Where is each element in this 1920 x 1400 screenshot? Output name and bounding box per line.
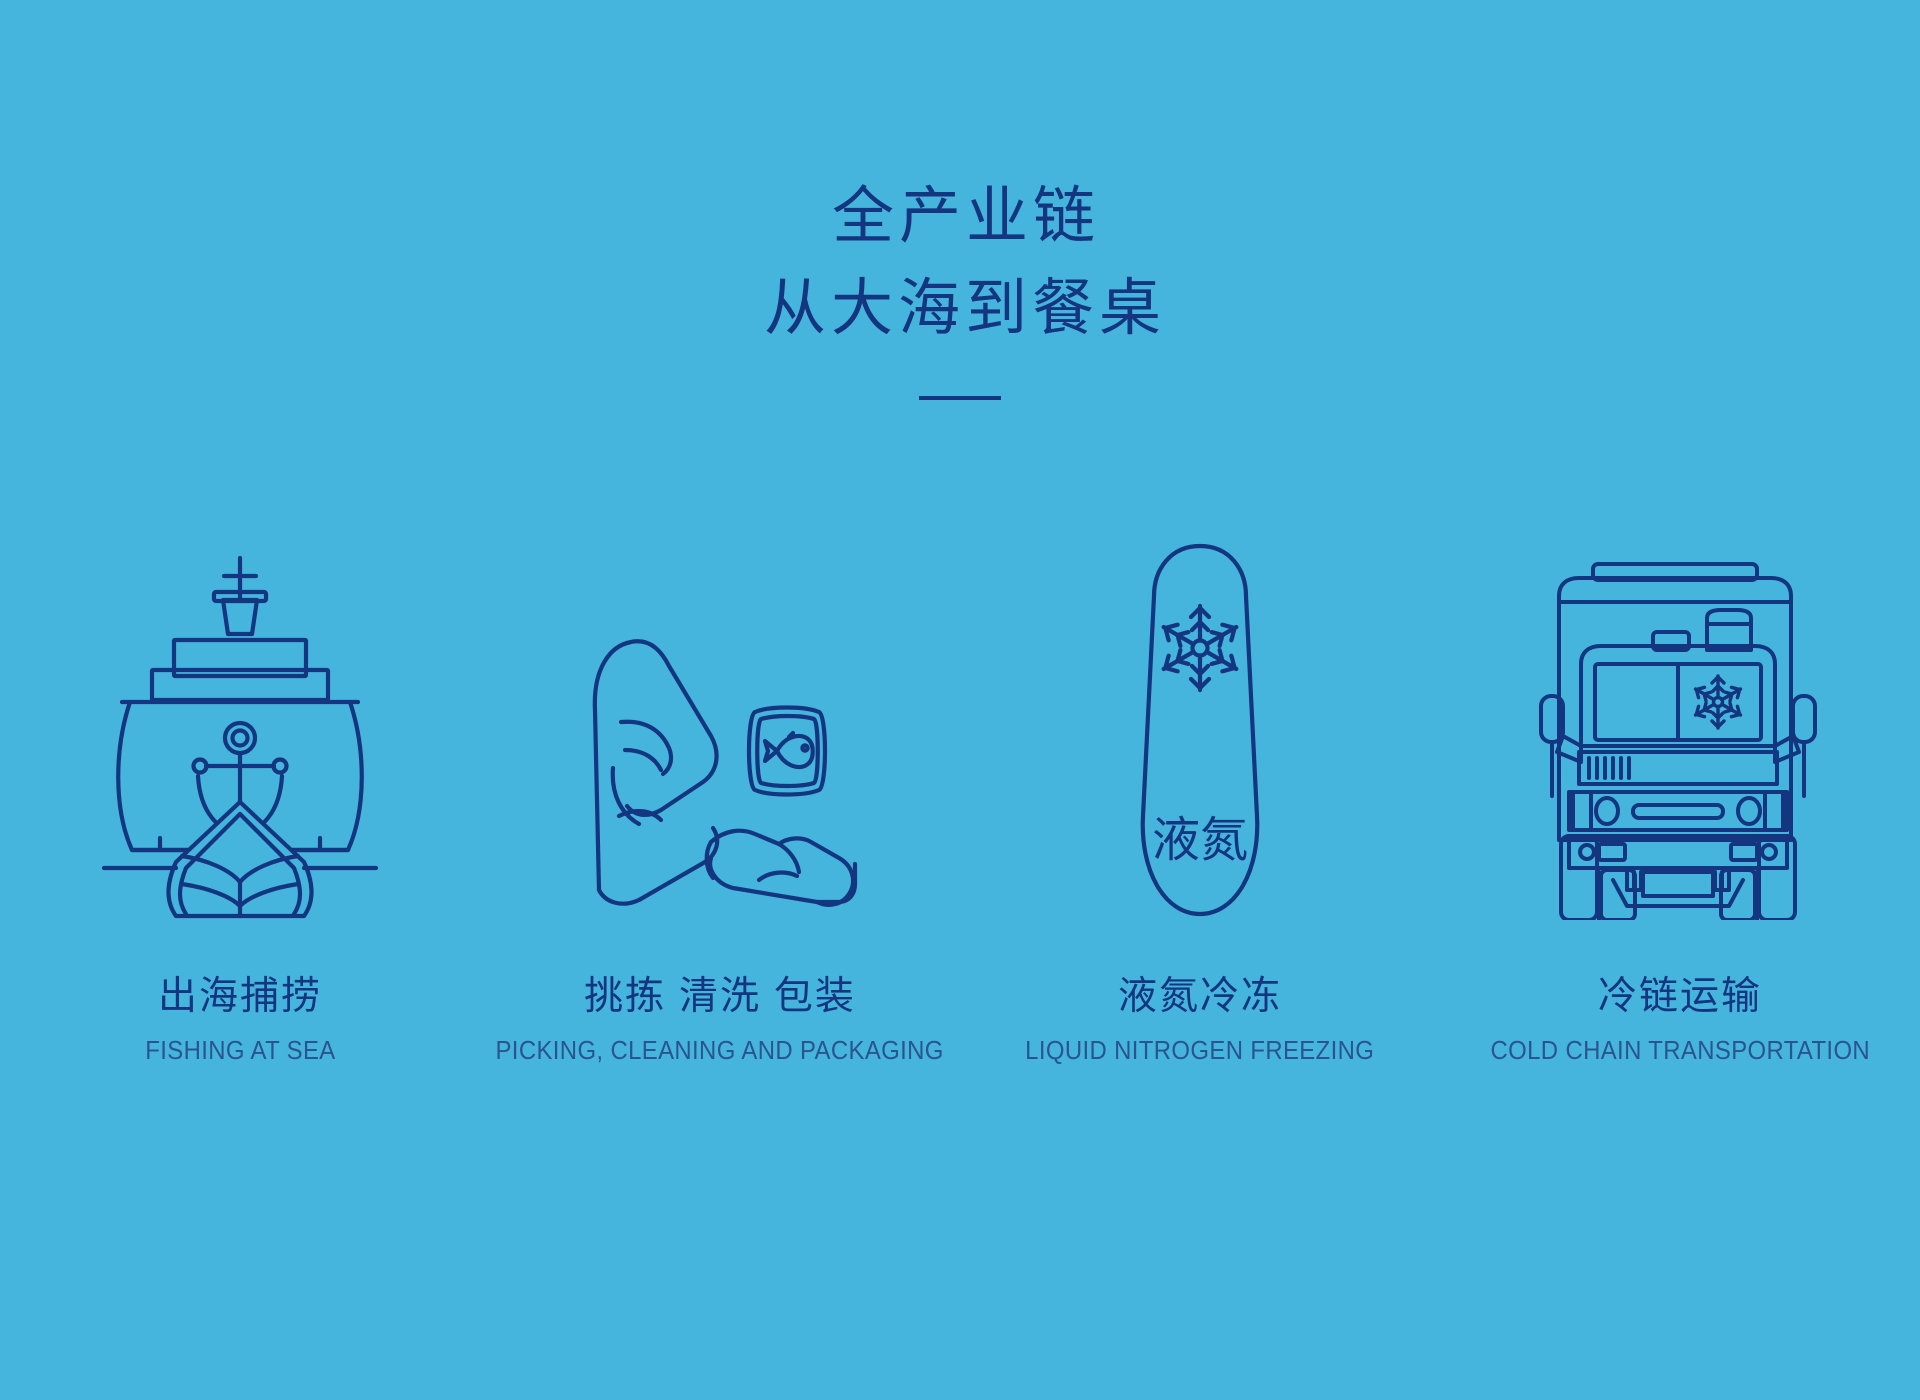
tank-label: 液氮 bbox=[1152, 814, 1248, 867]
page-title-line-2: 从大海到餐桌 bbox=[10, 262, 1920, 354]
step-labels: 液氮冷冻 LIQUID NITROGEN FREEZING bbox=[1010, 972, 1389, 1066]
step-label-cn: 液氮冷冻 bbox=[1010, 972, 1389, 1023]
step-label-cn: 出海捕捞 bbox=[137, 972, 344, 1023]
step-labels: 挑拣 清洗 包装 PICKING, CLEANING AND PACKAGING bbox=[476, 972, 963, 1066]
step-cold-chain-transportation[interactable]: 冷链运输 COLD CHAIN TRANSPORTATION bbox=[1440, 520, 1920, 1066]
fishing-boat-icon bbox=[90, 520, 390, 920]
liquid-nitrogen-tank-icon: 液氮 bbox=[1110, 520, 1290, 920]
step-liquid-nitrogen-freezing[interactable]: 液氮 液氮冷冻 LIQUID NITROGEN FREEZING bbox=[960, 520, 1440, 1066]
process-steps: 出海捕捞 FISHING AT SEA bbox=[0, 520, 1920, 1066]
step-labels: 冷链运输 COLD CHAIN TRANSPORTATION bbox=[1474, 972, 1887, 1066]
step-label-cn: 冷链运输 bbox=[1474, 972, 1887, 1023]
step-label-en: COLD CHAIN TRANSPORTATION bbox=[1490, 1035, 1870, 1066]
step-picking-cleaning-packaging[interactable]: 挑拣 清洗 包装 PICKING, CLEANING AND PACKAGING bbox=[480, 520, 960, 1066]
refrigerated-truck-icon bbox=[1535, 520, 1825, 920]
title-divider bbox=[919, 396, 1001, 400]
step-label-en: PICKING, CLEANING AND PACKAGING bbox=[496, 1035, 944, 1066]
step-fishing-at-sea[interactable]: 出海捕捞 FISHING AT SEA bbox=[0, 520, 480, 1066]
step-label-en: LIQUID NITROGEN FREEZING bbox=[1025, 1035, 1374, 1066]
page-title-line-1: 全产业链 bbox=[12, 170, 1920, 262]
step-label-en: FISHING AT SEA bbox=[145, 1035, 335, 1066]
hands-fish-package-icon bbox=[565, 520, 875, 920]
page-title: 全产业链 从大海到餐桌 bbox=[0, 170, 1920, 400]
step-label-cn: 挑拣 清洗 包装 bbox=[476, 972, 963, 1023]
step-labels: 出海捕捞 FISHING AT SEA bbox=[137, 972, 344, 1066]
page-root: 全产业链 从大海到餐桌 bbox=[0, 0, 1920, 1400]
